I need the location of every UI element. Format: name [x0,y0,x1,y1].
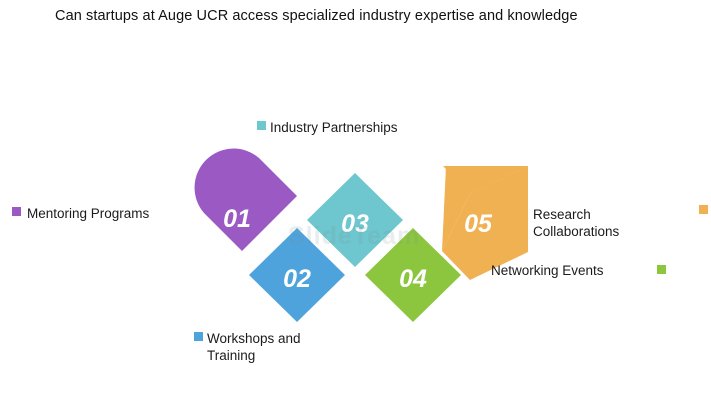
step-number-05: 05 [464,210,493,238]
legend-label-research-collaborations: Research Collaborations [533,207,619,241]
step-number-04: 04 [399,265,427,293]
legend-bullet-workshops-and-training [194,332,203,341]
step-shape-01[interactable] [195,149,297,251]
legend-bullet-industry-partnerships [257,121,266,130]
step-number-03: 03 [341,210,369,238]
legend-label-networking-events: Networking Events [491,263,604,280]
process-diagram: 01 02 03 04 05 [0,0,711,400]
step-number-02: 02 [283,265,311,293]
step-number-01: 01 [223,205,251,233]
legend-bullet-mentoring-programs [12,207,21,216]
diagram-svg: 01 02 03 04 05 [0,0,711,400]
legend-bullet-networking-events [657,265,666,274]
legend-label-mentoring-programs: Mentoring Programs [27,206,149,223]
slide-canvas: Can startups at Auge UCR access speciali… [0,0,711,400]
legend-bullet-research-collaborations [699,205,708,214]
legend-label-industry-partnerships: Industry Partnerships [270,120,398,137]
legend-label-workshops-and-training: Workshops and Training [207,331,301,365]
